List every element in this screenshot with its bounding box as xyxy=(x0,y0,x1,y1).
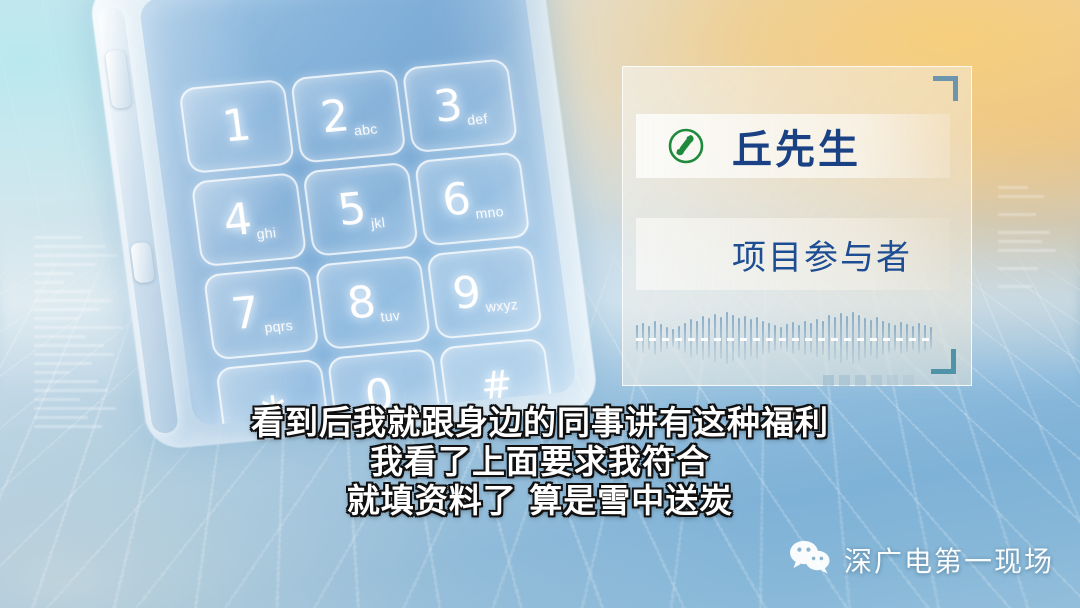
waveform-level-block xyxy=(903,375,914,386)
phone-graphic: 12abc3def4ghi5jkl6mno7pqrs8tuv9wxyz∗0+# xyxy=(88,0,600,451)
role-row: 项目参与者 xyxy=(636,218,950,290)
caller-name: 丘先生 xyxy=(732,117,861,175)
phone-screen: 12abc3def4ghi5jkl6mno7pqrs8tuv9wxyz∗0+# xyxy=(138,0,577,426)
keypad-letters: tuv xyxy=(379,307,401,325)
waveform-level-block xyxy=(823,375,834,386)
waveform-level-blocks xyxy=(823,375,914,386)
audio-waveform xyxy=(636,302,932,374)
watermark-text: 深广电第一现场 xyxy=(844,540,1054,580)
name-row: 丘先生 xyxy=(636,114,950,178)
waveform-level-block xyxy=(855,375,866,386)
channel-watermark: 深广电第一现场 xyxy=(788,539,1054,580)
keypad-letters: jkl xyxy=(370,214,386,231)
caller-name-card: 丘先生 项目参与者 xyxy=(622,66,972,386)
waveform-level-block xyxy=(887,375,898,386)
phone-handset-circle-icon xyxy=(664,124,708,168)
video-frame: 12abc3def4ghi5jkl6mno7pqrs8tuv9wxyz∗0+# … xyxy=(0,0,1080,608)
keypad-digit: 2 xyxy=(318,94,352,140)
waveform-level-block xyxy=(839,375,850,386)
corner-bracket-top-right xyxy=(933,76,958,101)
waveform-center-dashed-line xyxy=(636,338,932,341)
keypad-letters: abc xyxy=(353,121,378,139)
corner-bracket-bottom-right xyxy=(931,349,956,374)
phone-side-button-lower xyxy=(130,242,155,284)
phone-speaker-grille xyxy=(284,0,409,6)
phone-side-button-upper xyxy=(105,50,132,109)
waveform-level-block xyxy=(871,375,882,386)
wechat-logo-icon xyxy=(788,539,832,580)
caller-role: 项目参与者 xyxy=(732,230,912,279)
